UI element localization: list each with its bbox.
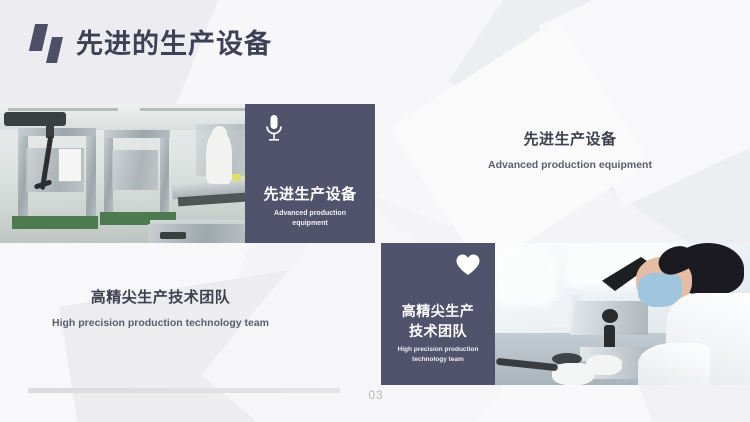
text-block-title: 高精尖生产技术团队 [28,286,293,307]
text-block-subtitle: Advanced production equipment [455,158,685,172]
slide-canvas: 先进的生产设备 [0,0,750,422]
double-parallelogram-logo-icon [30,24,68,64]
photo-detail [160,134,169,214]
photo-detail [586,355,622,375]
photo-detail [86,128,96,220]
card-title-line-2: 技术团队 [409,323,467,339]
card-title: 高精尖生产 技术团队 [381,301,495,341]
microphone-icon [263,114,285,149]
photo-detail [212,126,227,141]
photo-detail [638,343,710,385]
card-subtitle: High precision production technology tea… [381,345,495,364]
card-advanced-production-equipment[interactable]: 先进生产设备 Advanced production equipment [245,104,375,243]
logo-shape-left [29,24,48,51]
text-block-title: 先进生产设备 [455,128,685,149]
card-high-precision-team[interactable]: 高精尖生产 技术团队 High precision production tec… [381,243,495,385]
photo-detail [502,257,550,299]
photo-detail [232,174,241,181]
photo-detail [18,128,96,136]
slide-header: 先进的生产设备 [0,0,750,88]
page-number: 03 [356,388,396,402]
photo-detail [58,148,82,182]
photo-detail [140,108,260,111]
text-block-high-precision-team: 高精尖生产技术团队 High precision production tech… [28,286,293,330]
page-title: 先进的生产设备 [76,24,272,64]
card-title-line-1: 高精尖生产 [402,303,475,319]
heart-icon [455,253,481,282]
text-block-advanced-production-equipment: 先进生产设备 Advanced production equipment [455,128,685,172]
card-subtitle: Advanced production equipment [245,209,375,229]
photo-detail [552,301,568,327]
card-title: 先进生产设备 [245,183,375,204]
text-block-subtitle: High precision production technology tea… [28,316,293,330]
photo-detail [8,108,118,111]
logo-shape-right [46,37,63,63]
photo-detail [104,130,170,138]
photo-detail [4,112,66,126]
photo-detail [160,232,186,239]
footer-decorative-bar [28,388,340,393]
photo-detail [112,150,158,190]
photo-detail [602,309,618,323]
photo-detail [12,216,98,229]
lab-microscope-photo [490,243,750,385]
